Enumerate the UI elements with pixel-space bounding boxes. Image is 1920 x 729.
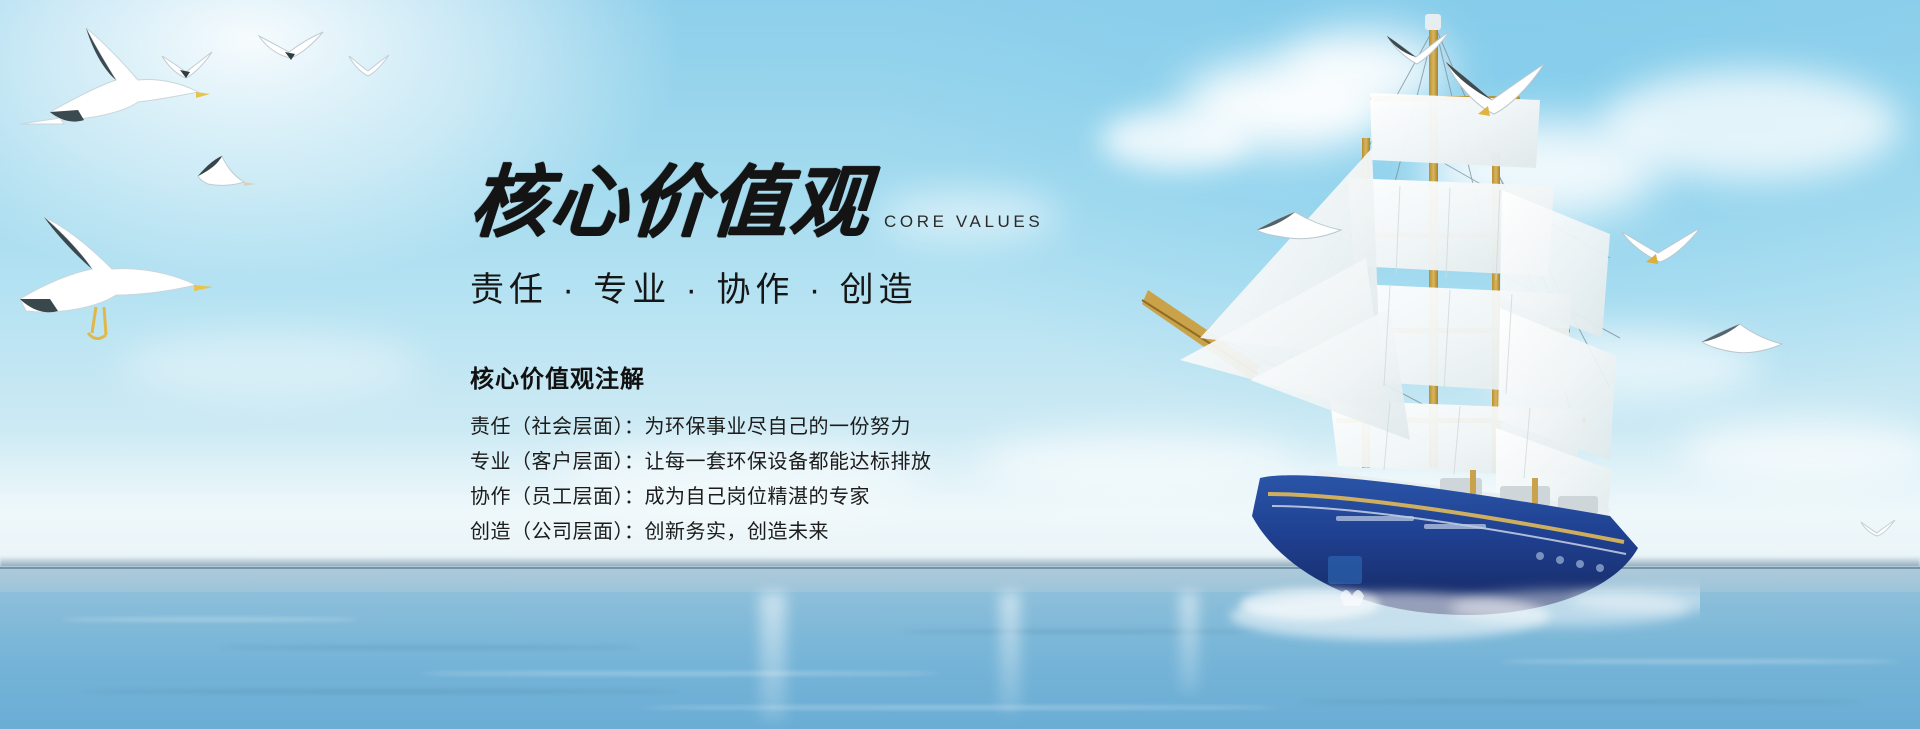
- seagull-icon: [160, 48, 214, 84]
- water-reflection: [1000, 592, 1020, 712]
- water-ripple: [1500, 660, 1900, 663]
- values-tagline: 责任 · 专业 · 协作 · 创造: [470, 262, 1090, 311]
- page-title-english: CORE VALUES: [884, 212, 1043, 246]
- core-values-banner: 核心价值观 CORE VALUES 责任 · 专业 · 协作 · 创造 核心价值…: [0, 0, 1920, 729]
- page-title: 核心价值观: [467, 160, 873, 246]
- seagull-icon: [1255, 200, 1343, 248]
- core-values-text-block: 核心价值观 CORE VALUES 责任 · 专业 · 协作 · 创造 核心价值…: [470, 150, 1090, 550]
- water-reflection: [760, 592, 786, 722]
- seagull-icon: [1700, 318, 1784, 368]
- seagull-icon: [255, 22, 327, 68]
- seagull-icon: [348, 52, 390, 80]
- water-ripple: [60, 618, 360, 621]
- seagull-icon: [1620, 220, 1702, 272]
- seagull-icon: [196, 148, 258, 190]
- list-item: 创造（公司层面）：创新务实，创造未来: [470, 515, 1090, 550]
- annotation-list: 责任（社会层面）：为环保事业尽自己的一份努力 专业（客户层面）：让每一套环保设备…: [470, 410, 1090, 550]
- list-item: 责任（社会层面）：为环保事业尽自己的一份努力: [470, 410, 1090, 445]
- annotation-heading: 核心价值观注解: [470, 359, 1090, 394]
- water-ripple: [640, 706, 1280, 709]
- seagull-icon: [20, 20, 210, 160]
- water-ripple: [420, 672, 940, 675]
- seagull-icon: [1440, 52, 1550, 130]
- sailing-ship: [1140, 8, 1700, 648]
- water-ripple: [220, 646, 640, 649]
- list-item: 专业（客户层面）：让每一套环保设备都能达标排放: [470, 445, 1090, 480]
- seagull-icon: [1860, 518, 1896, 538]
- list-item: 协作（员工层面）：成为自己岗位精湛的专家: [470, 480, 1090, 515]
- water-ripple: [1300, 700, 1860, 703]
- water-ripple: [80, 690, 680, 693]
- title-row: 核心价值观 CORE VALUES: [470, 150, 1090, 246]
- seagull-icon: [0, 215, 215, 365]
